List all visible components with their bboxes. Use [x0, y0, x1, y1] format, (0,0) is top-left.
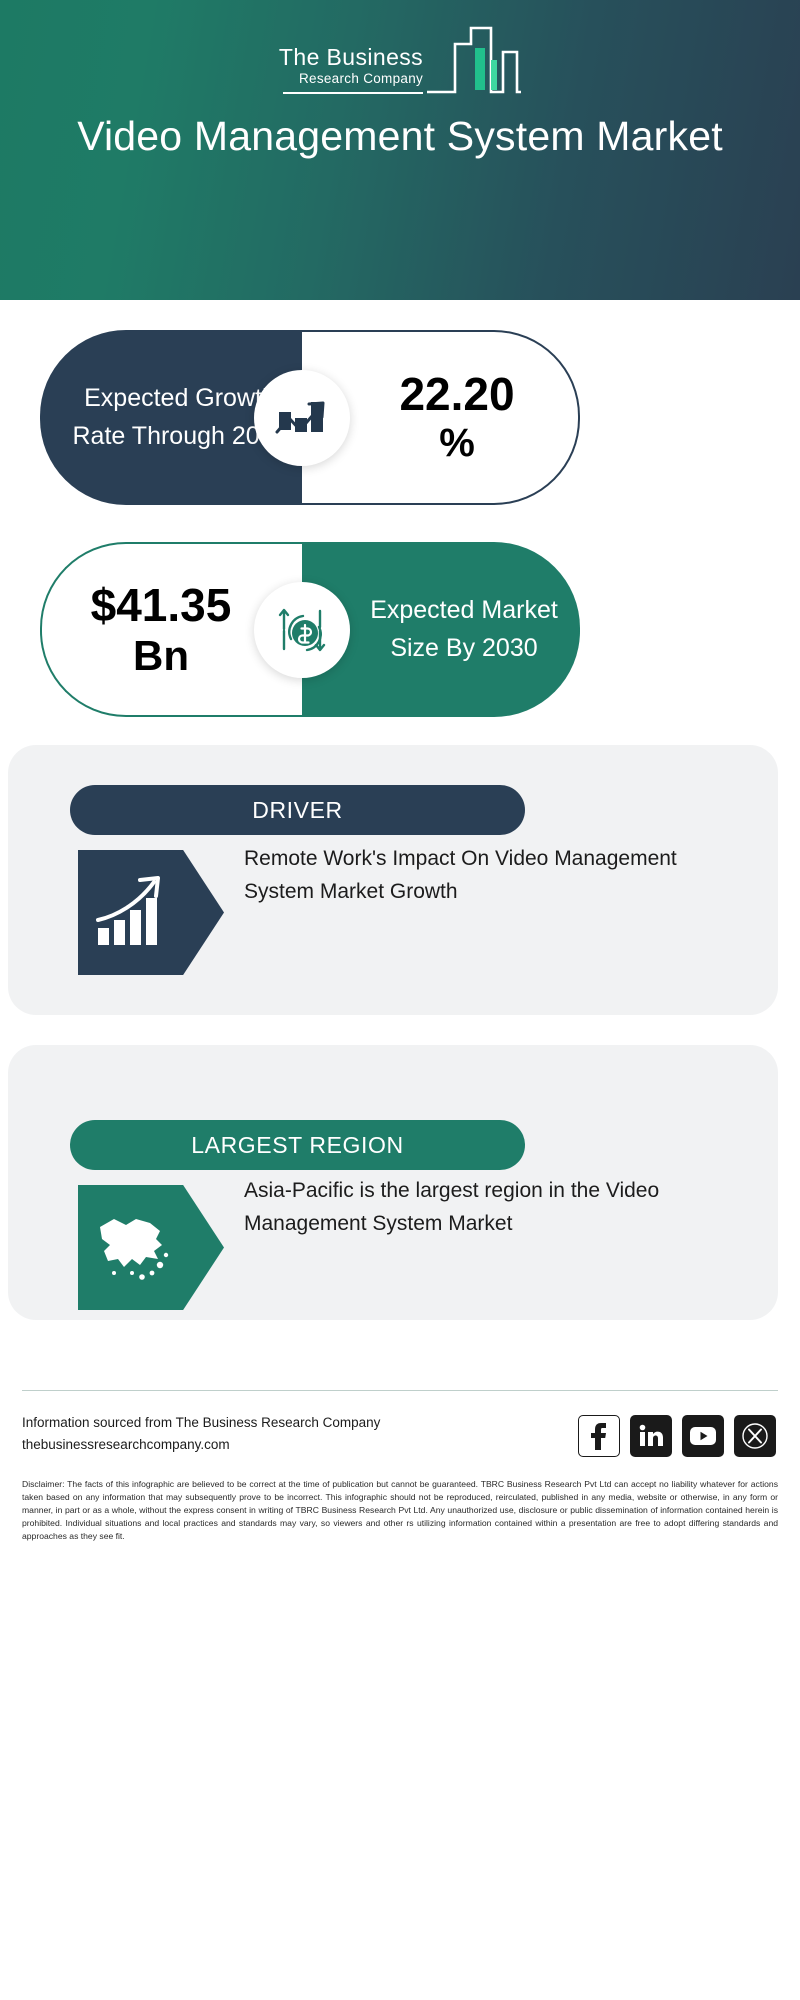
market-size-unit: Bn [91, 632, 232, 679]
driver-pill-label: DRIVER [252, 797, 343, 824]
largest-region-pill: LARGEST REGION [70, 1120, 525, 1170]
facebook-icon[interactable] [578, 1415, 620, 1457]
growth-bar-chart-arrow-icon [78, 850, 224, 975]
header-banner: The Business Research Company Video Mana… [0, 0, 800, 300]
youtube-icon[interactable] [682, 1415, 724, 1457]
market-size-number: $41.35 [91, 579, 232, 631]
largest-region-pill-label: LARGEST REGION [191, 1132, 403, 1159]
x-twitter-icon[interactable] [734, 1415, 776, 1457]
bar-chart-logo-icon [425, 22, 521, 98]
largest-region-panel: LARGEST REGION Asia-Pacific is the large… [8, 1045, 778, 1320]
source-info: Information sourced from The Business Re… [22, 1412, 452, 1456]
disclaimer-text: Disclaimer: The facts of this infographi… [22, 1478, 778, 1543]
linkedin-icon[interactable] [630, 1415, 672, 1457]
growth-bar-arrow-icon [254, 370, 350, 466]
logo-wordmark: The Business Research Company [279, 46, 423, 98]
driver-pill: DRIVER [70, 785, 525, 835]
stat-card-market-size: $41.35 Bn Expected Market Size By 2030 [40, 542, 580, 717]
logo-underline [283, 92, 423, 94]
infographic-page: The Business Research Company Video Mana… [0, 0, 800, 2000]
growth-rate-number: 22.20 [399, 368, 514, 420]
company-logo: The Business Research Company [0, 22, 800, 98]
dollar-cycle-arrows-icon [254, 582, 350, 678]
driver-panel: DRIVER Remote Work's Impact On Video Man… [8, 745, 778, 1015]
growth-rate-unit: % [399, 421, 514, 466]
stat-value-text: 22.20 % [365, 369, 514, 465]
driver-body-text: Remote Work's Impact On Video Management… [244, 843, 744, 908]
page-title: Video Management System Market [60, 110, 740, 162]
footer-divider [22, 1390, 778, 1391]
stat-value-text: $41.35 Bn [91, 580, 254, 679]
logo-line-1: The Business [279, 46, 423, 69]
stat-card-growth-rate: Expected Growth Rate Through 2030 22.20 … [40, 330, 580, 505]
source-line-1: Information sourced from The Business Re… [22, 1412, 452, 1434]
source-website[interactable]: thebusinessresearchcompany.com [22, 1434, 452, 1456]
social-links [578, 1415, 776, 1457]
asia-pacific-map-icon [78, 1185, 224, 1310]
largest-region-body-text: Asia-Pacific is the largest region in th… [244, 1175, 744, 1240]
logo-line-2: Research Company [299, 69, 423, 89]
